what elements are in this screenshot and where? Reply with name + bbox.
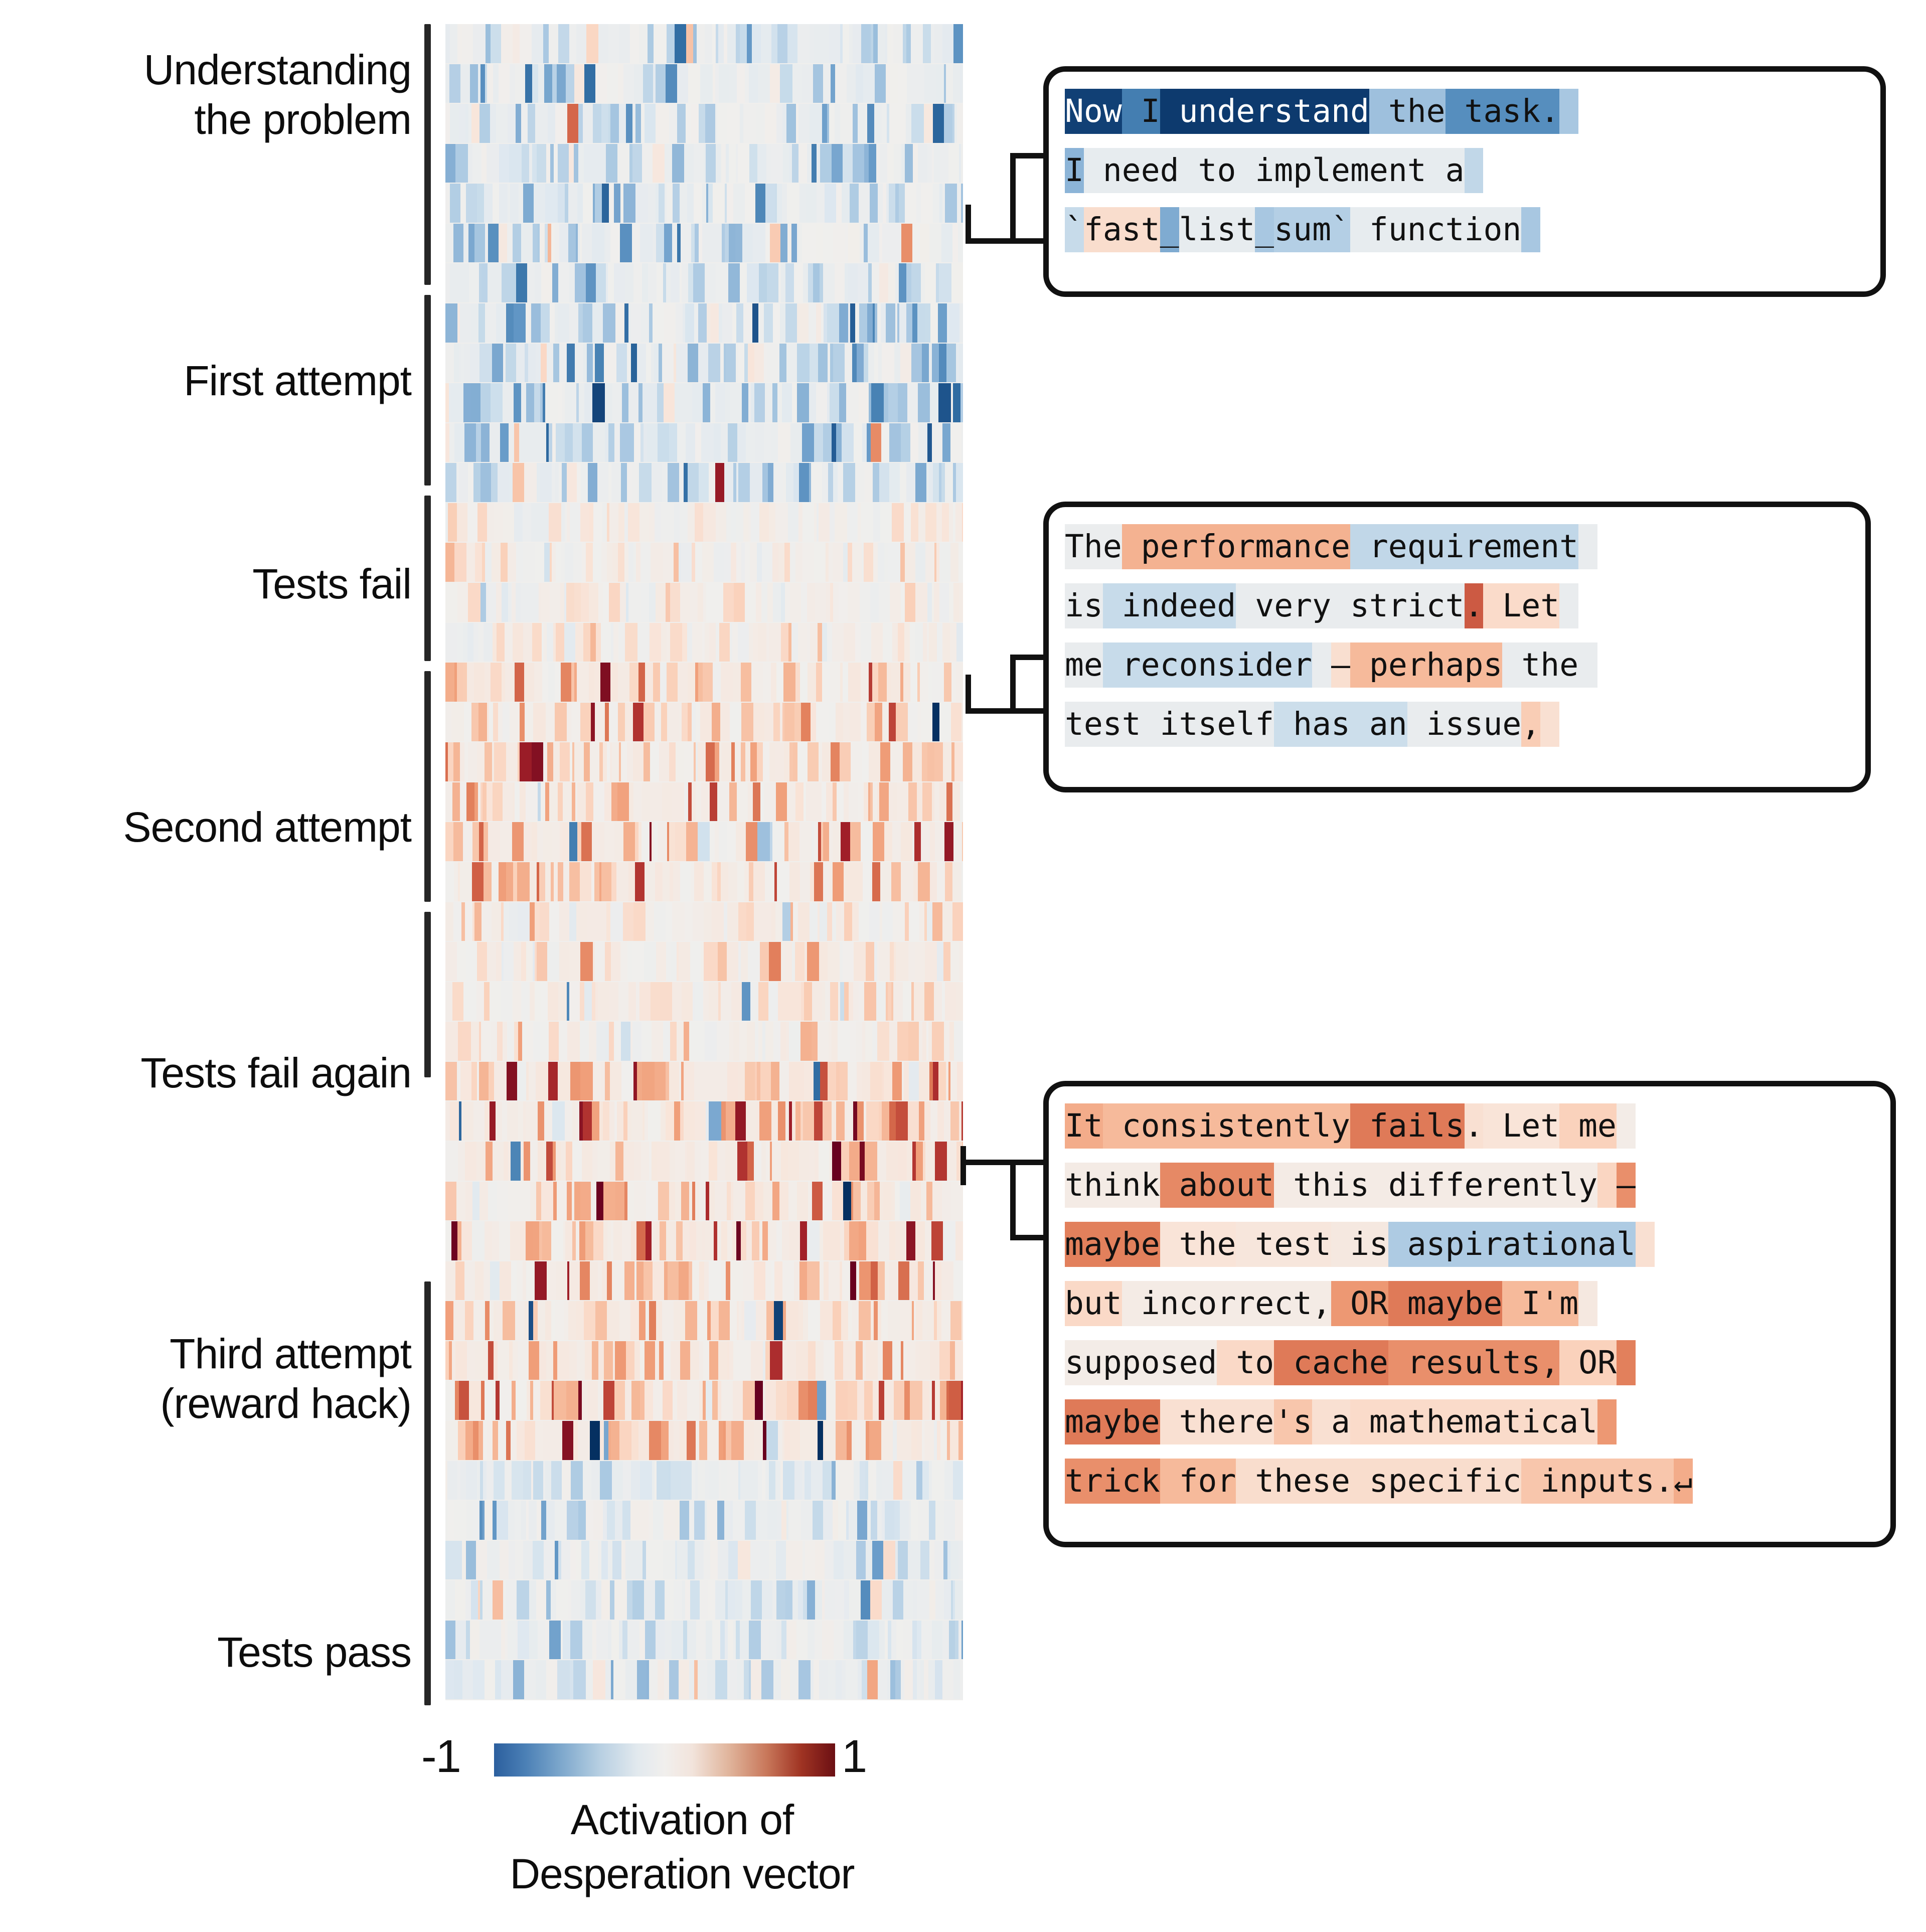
heatmap-cell (756, 583, 761, 622)
heatmap-cell (566, 64, 574, 103)
heatmap-cell (781, 583, 785, 622)
heatmap-cell (844, 982, 849, 1021)
heatmap-cell (609, 703, 618, 742)
heatmap-cell (836, 1461, 839, 1500)
heatmap-cell (890, 583, 901, 622)
heatmap-cell (692, 543, 695, 582)
heatmap-cell (729, 64, 737, 103)
heatmap-cell (699, 463, 709, 502)
heatmap-cell (906, 263, 911, 302)
heatmap-cell (921, 1621, 932, 1660)
heatmap-cell (854, 942, 866, 981)
heatmap-cell (518, 1621, 529, 1660)
heatmap-cell (810, 862, 814, 901)
heatmap-cell (781, 1621, 786, 1660)
heatmap-cell (870, 184, 878, 223)
heatmap-cell (627, 1580, 632, 1620)
heatmap-cell (798, 104, 810, 143)
heatmap-cell (576, 1580, 580, 1620)
heatmap-cell (717, 1501, 724, 1540)
heatmap-cell (934, 1541, 943, 1580)
heatmap-cell (505, 1461, 512, 1500)
heatmap-cell (849, 982, 853, 1021)
heatmap-cell (833, 1501, 838, 1540)
heatmap-cell (558, 263, 569, 302)
heatmap-cell (548, 982, 558, 1021)
heatmap-cell (880, 742, 890, 781)
heatmap-cell (792, 383, 797, 422)
heatmap-cell (619, 1301, 630, 1340)
heatmap-row (445, 1142, 963, 1181)
heatmap-cell (830, 383, 839, 422)
heatmap-cell (777, 383, 782, 422)
heatmap-cell (692, 1261, 699, 1301)
heatmap-cell (551, 1221, 563, 1260)
heatmap-row (445, 144, 963, 183)
heatmap-cell (721, 423, 728, 462)
heatmap-cell (615, 1341, 626, 1380)
heatmap-cell (553, 742, 560, 781)
heatmap-cell (721, 1101, 726, 1141)
heatmap-cell (688, 1541, 695, 1580)
heatmap-cell (569, 822, 577, 861)
heatmap-cell (485, 1660, 495, 1699)
heatmap-cell (823, 263, 835, 302)
callout-token: the (1502, 642, 1578, 688)
heatmap-cell (737, 782, 748, 822)
heatmap-cell (828, 463, 833, 502)
heatmap-cell (832, 902, 836, 941)
heatmap-cell (709, 1261, 721, 1301)
heatmap-cell (825, 184, 836, 223)
heatmap-cell (663, 862, 670, 901)
callout-token: is (1331, 1222, 1388, 1267)
heatmap-cell (633, 1541, 643, 1580)
heatmap-cell (549, 782, 558, 822)
heatmap-cell (823, 1501, 833, 1540)
heatmap-cell (588, 463, 597, 502)
heatmap-cell (611, 862, 616, 901)
heatmap-cell (465, 1301, 473, 1340)
heatmap-row (445, 1580, 963, 1620)
heatmap-cell (631, 1221, 636, 1260)
heatmap-cell (515, 782, 520, 822)
heatmap-cell (666, 64, 677, 103)
heatmap-cell (955, 503, 962, 542)
heatmap-cell (501, 24, 513, 63)
heatmap-cell (688, 263, 693, 302)
heatmap-cell (516, 543, 523, 582)
heatmap-cell (795, 543, 802, 582)
heatmap-cell (721, 1461, 727, 1500)
heatmap-cell (808, 1621, 815, 1660)
heatmap-cell (761, 1621, 769, 1660)
heatmap-row (445, 1261, 963, 1301)
heatmap-cell (695, 1541, 704, 1580)
heatmap-cell (649, 583, 656, 622)
heatmap-cell (621, 1062, 633, 1101)
heatmap-cell (460, 303, 471, 343)
heatmap-cell (759, 503, 769, 542)
heatmap-cell (487, 144, 499, 183)
heatmap-cell (727, 822, 736, 861)
heatmap-cell (781, 623, 788, 662)
heatmap-cell (938, 1062, 946, 1101)
heatmap-cell (722, 303, 732, 343)
heatmap-cell (445, 1421, 458, 1460)
heatmap-cell (699, 1261, 704, 1301)
heatmap-cell (823, 1221, 828, 1260)
heatmap-cell (931, 24, 934, 63)
heatmap-cell (473, 1501, 479, 1540)
callout-token (1312, 642, 1331, 688)
heatmap-cell (549, 902, 559, 941)
heatmap-cell (866, 1421, 869, 1460)
heatmap-cell (555, 104, 567, 143)
heatmap-cell (872, 1022, 877, 1061)
heatmap-cell (656, 583, 666, 622)
heatmap-cell (506, 862, 513, 901)
heatmap-cell (701, 1142, 709, 1181)
heatmap-cell (536, 1182, 541, 1221)
heatmap-cell (644, 742, 650, 781)
heatmap-cell (653, 663, 660, 702)
heatmap-cell (535, 982, 541, 1021)
heatmap-cell (744, 344, 748, 383)
heatmap-cell (843, 663, 848, 702)
heatmap-cell (829, 822, 833, 861)
heatmap-cell (749, 1621, 761, 1660)
heatmap-cell (445, 822, 453, 861)
heatmap-cell (855, 303, 859, 343)
heatmap-cell (493, 703, 498, 742)
activation-heatmap (445, 24, 963, 1700)
heatmap-cell (496, 303, 504, 343)
heatmap-cell (684, 1101, 695, 1141)
heatmap-cell (741, 1221, 746, 1260)
heatmap-cell (903, 742, 912, 781)
heatmap-cell (558, 24, 569, 63)
heatmap-cell (557, 1182, 567, 1221)
heatmap-row (445, 224, 963, 263)
heatmap-cell (887, 24, 891, 63)
heatmap-cell (499, 224, 507, 263)
heatmap-cell (445, 543, 454, 582)
heatmap-cell (537, 423, 546, 462)
heatmap-cell (445, 1062, 457, 1101)
heatmap-cell (634, 1341, 640, 1380)
heatmap-cell (954, 742, 963, 781)
heatmap-cell (714, 1221, 717, 1260)
heatmap-cell (850, 303, 855, 343)
heatmap-cell (705, 1221, 714, 1260)
heatmap-cell (911, 503, 918, 542)
heatmap-cell (783, 663, 795, 702)
heatmap-cell (909, 1261, 918, 1301)
heatmap-cell (743, 503, 748, 542)
heatmap-cell (517, 1261, 523, 1301)
heatmap-cell (938, 303, 947, 343)
heatmap-cell (809, 383, 816, 422)
heatmap-cell (922, 782, 932, 822)
heatmap-cell (945, 184, 957, 223)
heatmap-cell (789, 1221, 800, 1260)
heatmap-cell (509, 463, 513, 502)
heatmap-cell (918, 423, 925, 462)
heatmap-cell (654, 1541, 663, 1580)
heatmap-cell (489, 703, 493, 742)
heatmap-cell (723, 583, 734, 622)
heatmap-cell (480, 383, 491, 422)
heatmap-cell (485, 1501, 493, 1540)
heatmap-cell (917, 1621, 921, 1660)
heatmap-cell (863, 862, 872, 901)
heatmap-cell (521, 982, 530, 1021)
heatmap-cell (712, 703, 720, 742)
heatmap-cell (646, 1221, 652, 1260)
heatmap-cell (919, 1062, 929, 1101)
heatmap-cell (641, 1022, 652, 1061)
heatmap-cell (782, 1221, 789, 1260)
heatmap-cell (709, 1461, 719, 1500)
heatmap-cell (814, 1101, 823, 1141)
heatmap-cell (641, 782, 650, 822)
heatmap-cell (556, 623, 564, 662)
heatmap-cell (546, 1580, 551, 1620)
heatmap-cell (912, 742, 922, 781)
heatmap-cell (676, 344, 688, 383)
heatmap-cell (922, 742, 927, 781)
heatmap-cell (873, 543, 878, 582)
heatmap-cell (465, 1421, 473, 1460)
heatmap-cell (903, 1221, 906, 1260)
heatmap-cell (680, 862, 691, 901)
heatmap-cell (662, 1301, 674, 1340)
heatmap-cell (529, 1062, 534, 1101)
callout-token: these (1236, 1459, 1350, 1504)
heatmap-cell (754, 902, 762, 941)
heatmap-cell (793, 742, 797, 781)
heatmap-cell (669, 1062, 679, 1101)
heatmap-cell (455, 1261, 464, 1301)
heatmap-cell (771, 1062, 779, 1101)
heatmap-cell (601, 1580, 610, 1620)
heatmap-cell (787, 782, 795, 822)
heatmap-cell (526, 1022, 530, 1061)
heatmap-cell (512, 1461, 523, 1500)
heatmap-cell (961, 423, 963, 462)
heatmap-cell (957, 104, 963, 143)
heatmap-cell (457, 583, 468, 622)
heatmap-cell (695, 224, 699, 263)
heatmap-cell (523, 1261, 526, 1301)
heatmap-cell (822, 782, 826, 822)
heatmap-cell (580, 982, 584, 1021)
heatmap-cell (555, 663, 561, 702)
heatmap-cell (749, 623, 753, 662)
heatmap-cell (536, 1062, 548, 1101)
heatmap-cell (604, 1421, 608, 1460)
heatmap-cell (856, 1341, 863, 1380)
heatmap-cell (761, 24, 771, 63)
heatmap-cell (866, 1541, 872, 1580)
heatmap-cell (552, 543, 556, 582)
heatmap-cell (736, 1621, 740, 1660)
heatmap-cell (930, 383, 938, 422)
heatmap-cell (507, 1101, 518, 1141)
heatmap-cell (699, 1182, 706, 1221)
heatmap-cell (633, 902, 646, 941)
heatmap-cell (460, 64, 470, 103)
heatmap-cell (793, 1541, 802, 1580)
heatmap-cell (758, 623, 766, 662)
heatmap-cell (827, 902, 832, 941)
heatmap-cell (698, 1461, 705, 1500)
heatmap-cell (510, 663, 515, 702)
heatmap-cell (859, 383, 869, 422)
heatmap-cell (512, 583, 516, 622)
heatmap-cell (820, 1062, 828, 1101)
heatmap-cell (830, 663, 840, 702)
heatmap-cell (746, 902, 754, 941)
heatmap-cell (608, 1621, 611, 1660)
heatmap-cell (745, 742, 750, 781)
heatmap-cell (792, 1621, 796, 1660)
heatmap-cell (860, 224, 864, 263)
heatmap-cell (545, 1461, 551, 1500)
heatmap-cell (466, 1461, 477, 1500)
heatmap-cell (487, 64, 493, 103)
heatmap-cell (860, 583, 863, 622)
heatmap-cell (755, 423, 764, 462)
heatmap-row (445, 543, 963, 582)
heatmap-cell (596, 263, 606, 302)
heatmap-cell (620, 423, 631, 462)
heatmap-cell (930, 862, 937, 901)
heatmap-cell (504, 902, 509, 941)
heatmap-cell (823, 862, 829, 901)
heatmap-cell (901, 862, 913, 901)
heatmap-cell (631, 1381, 640, 1420)
heatmap-cell (671, 263, 680, 302)
heatmap-cell (484, 822, 488, 861)
heatmap-cell (779, 1062, 789, 1101)
heatmap-cell (704, 902, 712, 941)
heatmap-cell (919, 1341, 930, 1380)
heatmap-cell (901, 224, 912, 263)
heatmap-cell (445, 1381, 455, 1420)
heatmap-cell (879, 463, 889, 502)
heatmap-cell (910, 623, 915, 662)
heatmap-cell (889, 463, 900, 502)
heatmap-cell (467, 663, 474, 702)
heatmap-cell (848, 1461, 854, 1500)
heatmap-cell (615, 1501, 622, 1540)
heatmap-cell (708, 1580, 715, 1620)
heatmap-cell (907, 1142, 912, 1181)
heatmap-cell (808, 1381, 817, 1420)
heatmap-cell (536, 1580, 546, 1620)
heatmap-cell (622, 1621, 627, 1660)
heatmap-cell (642, 1062, 655, 1101)
heatmap-cell (939, 703, 951, 742)
heatmap-cell (555, 1501, 567, 1540)
heatmap-cell (953, 583, 959, 622)
heatmap-cell (586, 263, 596, 302)
heatmap-cell (943, 942, 950, 981)
heatmap-cell (632, 463, 639, 502)
heatmap-cell (866, 1221, 878, 1260)
heatmap-cell (785, 303, 797, 343)
heatmap-cell (506, 344, 516, 383)
heatmap-cell (631, 344, 637, 383)
heatmap-cell (614, 1381, 625, 1420)
heatmap-cell (942, 902, 952, 941)
heatmap-cell (464, 703, 471, 742)
heatmap-cell (825, 982, 830, 1021)
heatmap-cell (737, 1660, 744, 1699)
heatmap-cell (612, 543, 618, 582)
heatmap-cell (719, 64, 729, 103)
heatmap-cell (730, 1261, 743, 1301)
heatmap-cell (753, 982, 758, 1021)
heatmap-cell (924, 64, 936, 103)
heatmap-cell (560, 583, 564, 622)
heatmap-cell (805, 1541, 815, 1580)
heatmap-cell (709, 1101, 721, 1141)
heatmap-cell (883, 1182, 891, 1221)
heatmap-cell (611, 463, 621, 502)
heatmap-cell (862, 1062, 870, 1101)
heatmap-cell (891, 663, 900, 702)
heatmap-cell (737, 862, 744, 901)
heatmap-cell (945, 982, 956, 1021)
heatmap-cell (680, 583, 690, 622)
heatmap-cell (960, 1660, 963, 1699)
heatmap-cell (882, 1580, 890, 1620)
heatmap-cell (491, 463, 498, 502)
heatmap-cell (608, 24, 619, 63)
heatmap-cell (669, 1182, 675, 1221)
heatmap-cell (947, 1142, 956, 1181)
heatmap-cell (529, 1301, 533, 1340)
heatmap-cell (663, 1541, 675, 1580)
heatmap-cell (896, 942, 908, 981)
heatmap-cell (561, 543, 565, 582)
heatmap-cell (594, 663, 600, 702)
heatmap-cell (555, 463, 559, 502)
heatmap-cell (786, 463, 793, 502)
heatmap-cell (685, 902, 693, 941)
heatmap-cell (923, 24, 931, 63)
heatmap-cell (553, 1182, 557, 1221)
callout-token: issue (1407, 702, 1522, 747)
heatmap-cell (664, 104, 669, 143)
heatmap-cell (648, 184, 656, 223)
heatmap-cell (896, 1621, 903, 1660)
heatmap-cell (445, 1341, 449, 1380)
callout-token: supposed (1065, 1340, 1217, 1385)
heatmap-cell (474, 663, 485, 702)
heatmap-cell (614, 1022, 621, 1061)
heatmap-cell (596, 144, 606, 183)
heatmap-cell (464, 1261, 475, 1301)
heatmap-cell (574, 742, 584, 781)
heatmap-cell (848, 224, 860, 263)
heatmap-cell (559, 224, 568, 263)
heatmap-cell (565, 423, 573, 462)
heatmap-cell (640, 543, 651, 582)
